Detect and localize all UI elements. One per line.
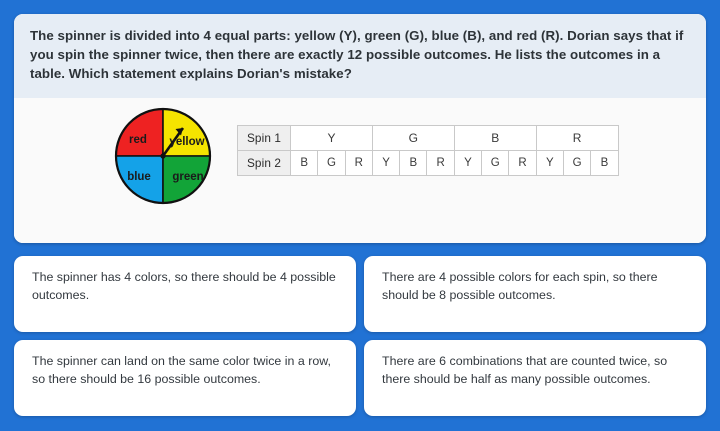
row-header-spin2: Spin 2 <box>238 150 291 175</box>
spinner-label-yellow: yellow <box>169 136 204 148</box>
question-stem: The spinner is divided into 4 equal part… <box>14 14 706 98</box>
spinner-label-green: green <box>172 171 203 183</box>
spinner-diagram: red yellow blue green <box>108 101 218 211</box>
spin2-cell-1: G <box>318 150 345 175</box>
spin2-cell-8: R <box>509 150 536 175</box>
spin2-cell-0: B <box>291 150 318 175</box>
row-header-spin1: Spin 1 <box>238 125 291 150</box>
question-screen: The spinner is divided into 4 equal part… <box>0 0 720 431</box>
spin2-cell-11: B <box>591 150 618 175</box>
question-card: The spinner is divided into 4 equal part… <box>14 14 706 243</box>
answer-choice-a-text: The spinner has 4 colors, so there shoul… <box>32 269 340 305</box>
spin1-cell-1: G <box>372 125 454 150</box>
answer-choice-a[interactable]: The spinner has 4 colors, so there shoul… <box>14 256 356 332</box>
answer-choices: The spinner has 4 colors, so there shoul… <box>14 256 706 416</box>
spin2-cell-2: R <box>345 150 372 175</box>
spinner-label-red: red <box>129 134 147 146</box>
answer-choice-d-text: There are 6 combinations that are counte… <box>382 353 690 389</box>
spin1-cell-0: Y <box>291 125 373 150</box>
spinner-label-blue: blue <box>127 171 151 183</box>
spin2-cell-7: G <box>482 150 509 175</box>
answer-choice-c-text: The spinner can land on the same color t… <box>32 353 340 389</box>
spin2-cell-3: Y <box>372 150 399 175</box>
answer-choice-d[interactable]: There are 6 combinations that are counte… <box>364 340 706 416</box>
outcome-table-wrapper: Spin 1 Y G B R Spin 2 B G R Y B <box>237 125 619 176</box>
answer-choice-b[interactable]: There are 4 possible colors for each spi… <box>364 256 706 332</box>
spin2-cell-4: B <box>400 150 427 175</box>
spinner-hub <box>160 153 165 158</box>
figure-area: red yellow blue green Spin 1 Y G B <box>14 98 706 243</box>
spin2-cell-9: Y <box>536 150 563 175</box>
spin2-cell-6: Y <box>454 150 481 175</box>
spin1-cell-3: R <box>536 125 618 150</box>
question-stem-text: The spinner is divided into 4 equal part… <box>30 27 690 84</box>
answer-choice-b-text: There are 4 possible colors for each spi… <box>382 269 690 305</box>
outcome-table: Spin 1 Y G B R Spin 2 B G R Y B <box>237 125 619 176</box>
spin1-cell-2: B <box>454 125 536 150</box>
table-row-spin2: Spin 2 B G R Y B R Y G R Y G B <box>238 150 619 175</box>
spin2-cell-5: R <box>427 150 454 175</box>
spin2-cell-10: G <box>563 150 590 175</box>
table-row-spin1: Spin 1 Y G B R <box>238 125 619 150</box>
spinner-svg: red yellow blue green <box>108 101 218 211</box>
answer-choice-c[interactable]: The spinner can land on the same color t… <box>14 340 356 416</box>
